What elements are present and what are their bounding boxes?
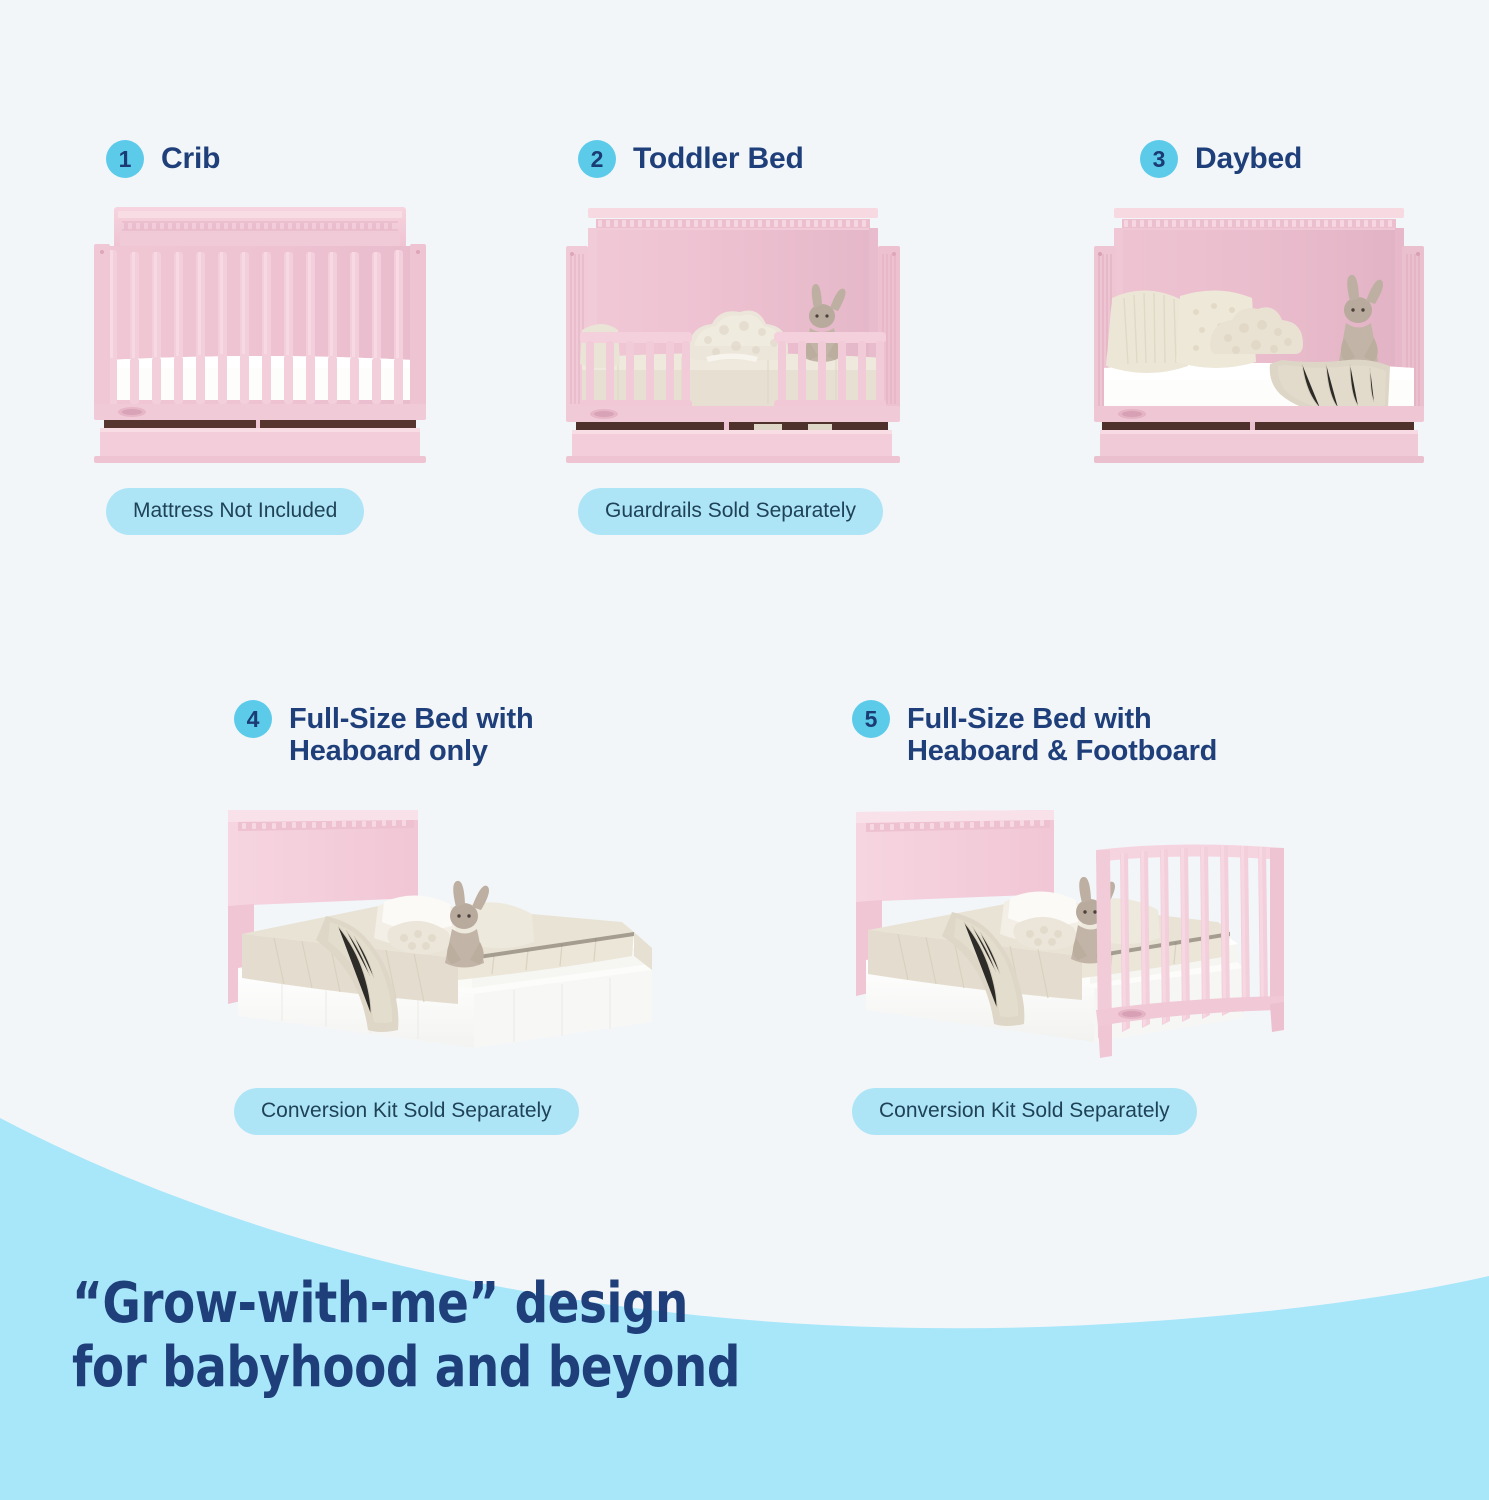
step-5-pill-wrap: Conversion Kit Sold Separately: [852, 1088, 1342, 1135]
step-title-3: Daybed: [1195, 140, 1302, 175]
step-card-3: 3 Daybed: [1140, 140, 1480, 468]
step-5-pill: Conversion Kit Sold Separately: [852, 1088, 1197, 1135]
step-5-header: 5 Full-Size Bed with Heaboard & Footboar…: [852, 700, 1342, 768]
product-image-crib: [86, 200, 434, 468]
step-title-1: Crib: [161, 140, 220, 175]
step-card-2: 2 Toddler Bed: [578, 140, 1008, 535]
step-card-1: 1 Crib: [106, 140, 526, 535]
step-4-pill: Conversion Kit Sold Separately: [234, 1088, 579, 1135]
step-title-2: Toddler Bed: [633, 140, 804, 175]
product-image-toddler-bed: [558, 200, 906, 468]
step-number-badge-4: 4: [234, 700, 272, 738]
step-number-badge-5: 5: [852, 700, 890, 738]
pillow-striped: [1106, 290, 1188, 373]
step-1-pill: Mattress Not Included: [106, 488, 364, 535]
crib-headboard: [114, 207, 406, 248]
product-image-daybed: [1070, 200, 1435, 468]
step-1-pill-wrap: Mattress Not Included: [106, 488, 526, 535]
step-2-pill: Guardrails Sold Separately: [578, 488, 883, 535]
step-1-header: 1 Crib: [106, 140, 526, 178]
step-4-header: 4 Full-Size Bed with Heaboard only: [234, 700, 704, 768]
step-4-pill-wrap: Conversion Kit Sold Separately: [234, 1088, 704, 1135]
step-title-5: Full-Size Bed with Heaboard & Footboard: [907, 700, 1217, 768]
product-image-full-bed-headboard-footboard: [844, 798, 1314, 1068]
step-2-pill-wrap: Guardrails Sold Separately: [578, 488, 1008, 535]
step-number-badge-3: 3: [1140, 140, 1178, 178]
step-3-header: 3 Daybed: [1140, 140, 1480, 178]
step-card-4: 4 Full-Size Bed with Heaboard only: [234, 700, 704, 1135]
step-card-5: 5 Full-Size Bed with Heaboard & Footboar…: [852, 700, 1342, 1135]
step-title-4: Full-Size Bed with Heaboard only: [289, 700, 534, 768]
step-number-badge-1: 1: [106, 140, 144, 178]
step-number-badge-2: 2: [578, 140, 616, 178]
product-image-full-bed-headboard: [222, 798, 692, 1068]
headline-line-2: for babyhood and beyond: [72, 1336, 740, 1400]
step-2-header: 2 Toddler Bed: [578, 140, 1008, 178]
headline-line-1: “Grow-with-me” design: [72, 1272, 740, 1336]
headline: “Grow-with-me” design for babyhood and b…: [72, 1272, 740, 1401]
